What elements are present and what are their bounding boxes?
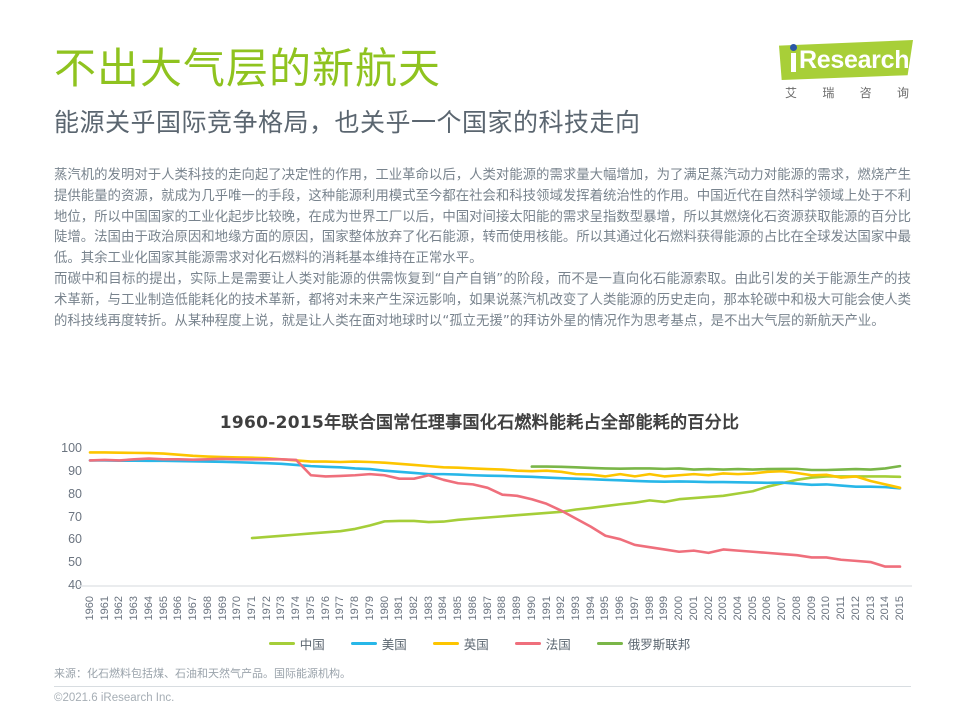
x-axis-tick-label: 2013 [865,596,877,620]
legend-color-swatch [597,642,623,645]
x-axis-tick-label: 1989 [511,596,523,620]
body-paragraph-1: 蒸汽机的发明对于人类科技的走向起了决定性的作用，工业革命以后，人类对能源的需求量… [54,166,911,270]
x-axis-tick-label: 1977 [334,596,346,620]
x-axis-tick-label: 1973 [275,596,287,620]
logo-cn-char-4: 询 [897,84,909,101]
logo-chinese-name: 艾 瑞 咨 询 [785,84,909,101]
x-axis-tick-label: 1992 [555,596,567,620]
footer-divider [54,686,911,687]
x-axis-tick-label: 1983 [423,596,435,620]
x-axis-tick-label: 2005 [747,596,759,620]
x-axis-tick-label: 2010 [820,596,832,620]
x-axis-tick-label: 1960 [84,596,96,620]
x-axis-tick-label: 1966 [172,596,184,620]
x-axis-tick-label: 2004 [732,596,744,620]
legend-item[interactable]: 法国 [515,634,571,653]
legend-item[interactable]: 中国 [269,634,325,653]
x-axis-tick-label: 2012 [850,596,862,620]
x-axis-tick-label: 1984 [437,596,449,620]
x-axis-tick-label: 1972 [261,596,273,620]
x-axis-tick-label: 1969 [217,596,229,620]
x-axis-tick-label: 1976 [320,596,332,620]
legend-color-swatch [351,642,377,645]
x-axis-tick-label: 2002 [703,596,715,620]
x-axis-tick-label: 2014 [879,596,891,620]
x-axis-tick-label: 1971 [246,596,258,620]
x-axis-tick-label: 1970 [231,596,243,620]
x-axis-tick-label: 2015 [894,596,906,620]
x-axis-tick-label: 1967 [187,596,199,620]
x-axis-ticks: 1960196119621963196419651966196719681969… [0,596,959,638]
x-axis-tick-label: 1982 [408,596,420,620]
logo-i-stem-icon [791,53,796,72]
legend-label: 俄罗斯联邦 [628,634,691,653]
x-axis-tick-label: 1985 [452,596,464,620]
body-copy: 蒸汽机的发明对于人类科技的走向起了决定性的作用，工业革命以后，人类对能源的需求量… [54,166,911,332]
chart-series-line [532,466,900,470]
body-paragraph-2: 而碳中和目标的提出，实际上是需要让人类对能源的供需恢复到“自产自销”的阶段，而不… [54,270,911,332]
logo-cn-char-1: 艾 [785,84,797,101]
logo-i-dot-icon [790,44,797,51]
legend-color-swatch [433,642,459,645]
legend-color-swatch [515,642,541,645]
x-axis-tick-label: 2007 [776,596,788,620]
x-axis-tick-label: 1998 [644,596,656,620]
x-axis-tick-label: 1995 [599,596,611,620]
chart-series-line [252,476,900,538]
x-axis-tick-label: 1986 [467,596,479,620]
legend-label: 法国 [546,634,571,653]
x-axis-tick-label: 1975 [305,596,317,620]
logo-mark: Research [771,38,913,82]
x-axis-tick-label: 2008 [791,596,803,620]
x-axis-tick-label: 1990 [526,596,538,620]
x-axis-tick-label: 1978 [349,596,361,620]
page-title: 不出大气层的新航天 [54,45,441,93]
x-axis-tick-label: 1991 [541,596,553,620]
x-axis-tick-label: 1994 [585,596,597,620]
x-axis-tick-label: 2009 [806,596,818,620]
x-axis-tick-label: 1964 [143,596,155,620]
source-note: 来源：化石燃料包括煤、石油和天然气产品。国际能源机构。 [54,665,351,681]
x-axis-tick-label: 1988 [496,596,508,620]
legend-item[interactable]: 俄罗斯联邦 [597,634,691,653]
x-axis-tick-label: 1962 [113,596,125,620]
x-axis-tick-label: 2006 [761,596,773,620]
logo-cn-char-2: 瑞 [822,84,834,101]
chart-legend: 中国美国英国法国俄罗斯联邦 [0,634,959,653]
x-axis-tick-label: 1997 [629,596,641,620]
legend-label: 英国 [464,634,489,653]
x-axis-tick-label: 2001 [688,596,700,620]
slide-page: Research 艾 瑞 咨 询 不出大气层的新航天 能源关乎国际竞争格局，也关… [0,0,959,719]
x-axis-tick-label: 1974 [290,596,302,620]
x-axis-tick-label: 1987 [482,596,494,620]
x-axis-tick-label: 2003 [717,596,729,620]
x-axis-tick-label: 1965 [158,596,170,620]
copyright-text: ©2021.6 iResearch Inc. [54,692,174,704]
legend-label: 中国 [300,634,325,653]
x-axis-tick-label: 2011 [835,596,847,620]
legend-item[interactable]: 美国 [351,634,407,653]
x-axis-tick-label: 1993 [570,596,582,620]
x-axis-tick-label: 1981 [393,596,405,620]
x-axis-tick-label: 2000 [673,596,685,620]
page-subtitle: 能源关乎国际竞争格局，也关乎一个国家的科技走向 [54,103,641,139]
iresearch-logo: Research 艾 瑞 咨 询 [771,38,913,104]
x-axis-tick-label: 1968 [202,596,214,620]
legend-label: 美国 [382,634,407,653]
x-axis-tick-label: 1999 [658,596,670,620]
legend-item[interactable]: 英国 [433,634,489,653]
x-axis-tick-label: 1980 [379,596,391,620]
x-axis-tick-label: 1979 [364,596,376,620]
logo-wordmark: Research [799,46,909,75]
x-axis-tick-label: 1961 [99,596,111,620]
logo-cn-char-3: 咨 [860,84,872,101]
legend-color-swatch [269,642,295,645]
x-axis-tick-label: 1963 [128,596,140,620]
x-axis-tick-label: 1996 [614,596,626,620]
chart-title: 1960-2015年联合国常任理事国化石燃料能耗占全部能耗的百分比 [0,408,959,433]
